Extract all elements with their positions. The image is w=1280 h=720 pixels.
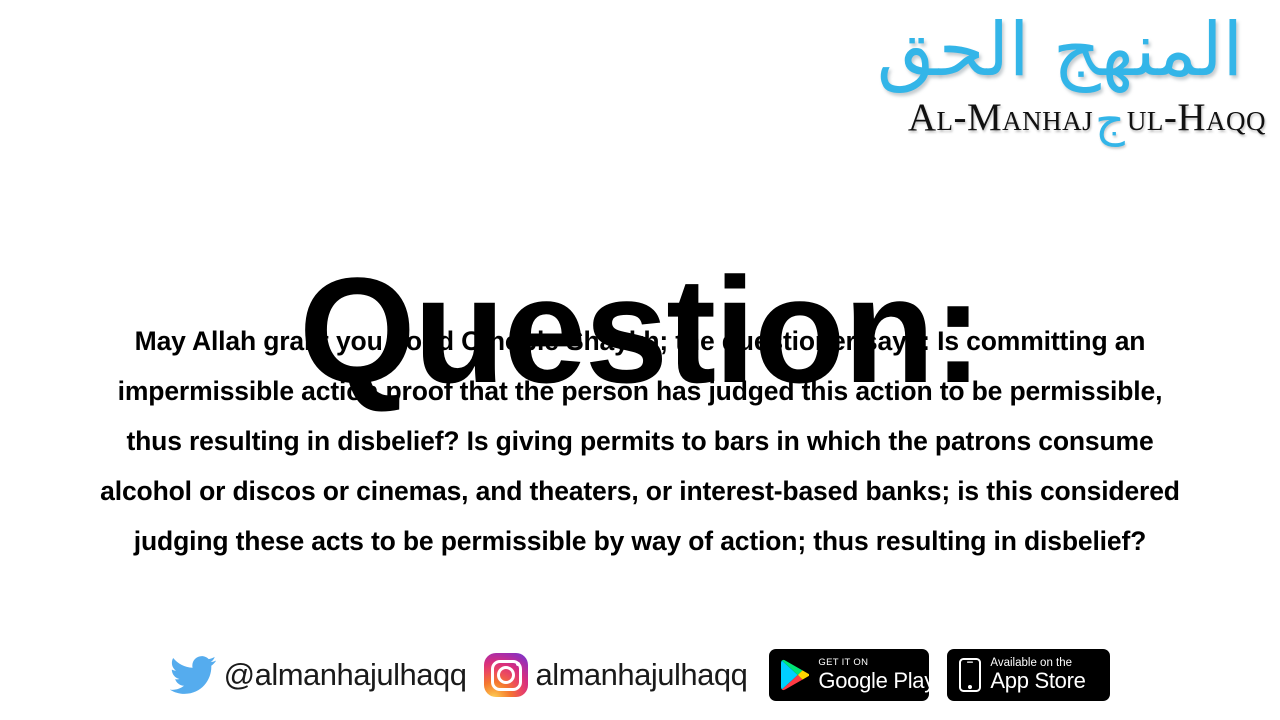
instagram-handle-label: almanhajulhaqq xyxy=(535,657,747,693)
twitter-handle-item[interactable]: @almanhajulhaqq xyxy=(170,647,467,703)
brand-logo: المنهج الحق Al-Manhajجul-Haqq xyxy=(766,8,1266,153)
google-play-badge[interactable]: GET IT ON Google Play xyxy=(769,649,929,701)
instagram-handle-item[interactable]: almanhajulhaqq xyxy=(484,647,747,703)
instagram-camera-icon xyxy=(484,653,528,697)
google-play-large-label: Google Play xyxy=(818,669,935,693)
google-play-badge-text: GET IT ON Google Play xyxy=(818,657,935,693)
twitter-bird-icon xyxy=(170,655,216,695)
body-line-5: judging these acts to be permissible by … xyxy=(40,516,1240,566)
question-body-text: May Allah grant you good O noble Shaykh;… xyxy=(40,316,1240,566)
body-line-3: thus resulting in disbelief? Is giving p… xyxy=(40,416,1240,466)
brand-latin-left: Al-Manhaj xyxy=(908,96,1093,139)
google-play-triangle-icon xyxy=(781,659,809,691)
body-line-1: May Allah grant you good O noble Shaykh;… xyxy=(40,316,1240,366)
brand-latin-wordmark: Al-Manhajجul-Haqq xyxy=(908,87,1266,141)
instagram-flash-dot xyxy=(516,662,520,666)
app-store-large-label: App Store xyxy=(990,669,1085,693)
apple-iphone-icon xyxy=(959,658,981,692)
body-line-2: impermissible action proof that the pers… xyxy=(40,366,1240,416)
arabic-jeem-swash-icon: ج xyxy=(1093,93,1127,147)
brand-latin-right: ul-Haqq xyxy=(1127,96,1266,139)
footer-social-bar: @almanhajulhaqq almanhajulhaqq GET IT ON… xyxy=(0,644,1280,706)
app-store-badge-text: Available on the App Store xyxy=(990,657,1085,693)
brand-arabic-calligraphy: المنهج الحق xyxy=(860,2,1260,98)
twitter-handle-label: @almanhajulhaqq xyxy=(224,657,467,693)
app-store-badge[interactable]: Available on the App Store xyxy=(947,649,1110,701)
body-line-4: alcohol or discos or cinemas, and theate… xyxy=(40,466,1240,516)
